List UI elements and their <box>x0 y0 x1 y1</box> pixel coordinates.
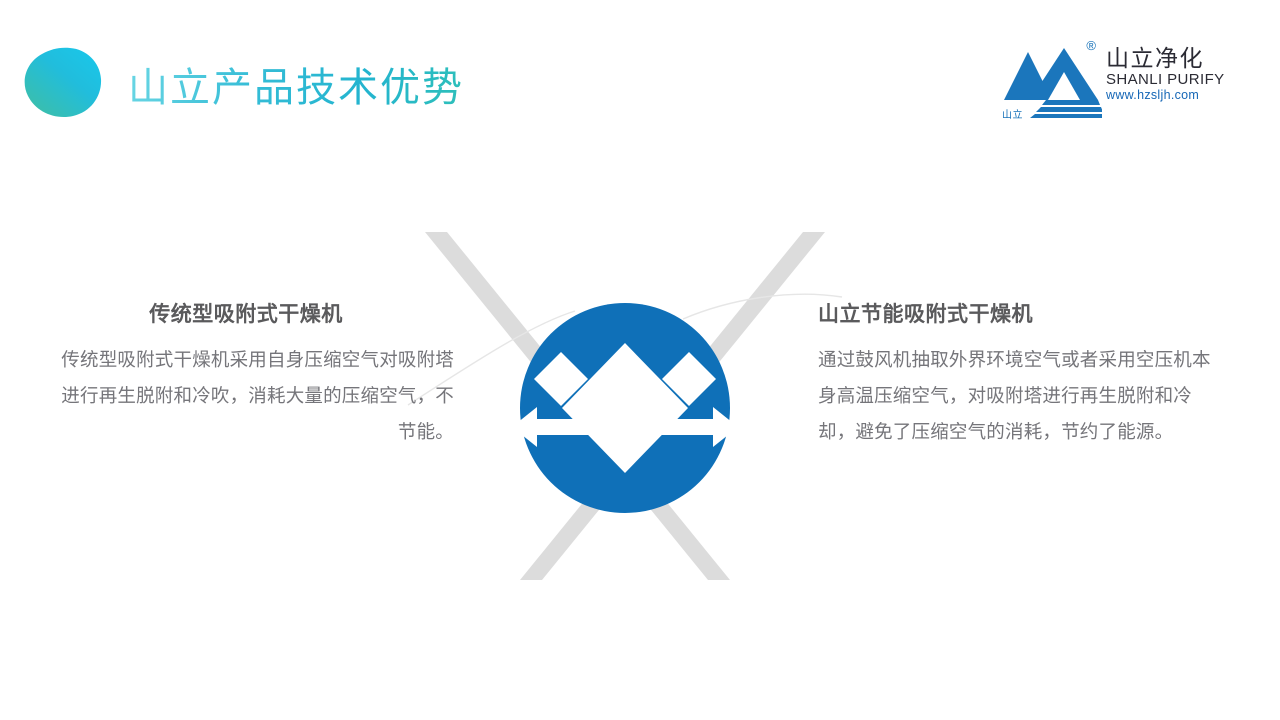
column-traditional: 传统型吸附式干燥机 传统型吸附式干燥机采用自身压缩空气对吸附塔进行再生脱附和冷吹… <box>44 300 454 450</box>
column-shanli: 山立节能吸附式干燥机 通过鼓风机抽取外界环境空气或者采用空压机本身高温压缩空气，… <box>818 300 1218 450</box>
column-traditional-title: 传统型吸附式干燥机 <box>44 300 454 330</box>
page-title: 山立产品技术优势 <box>128 60 464 116</box>
slide-canvas: 山立产品技术优势 ® 山立 山立净化 SHANLI PURIFY www.hzs… <box>0 0 1280 720</box>
column-traditional-body: 传统型吸附式干燥机采用自身压缩空气对吸附塔进行再生脱附和冷吹，消耗大量的压缩空气… <box>44 342 454 450</box>
mountain-triangles-icon: ® 山立 <box>1002 38 1102 122</box>
logo-company-cn: 山立净化 <box>1106 46 1226 71</box>
logo-website: www.hzsljh.com <box>1106 88 1226 103</box>
column-shanli-title: 山立节能吸附式干燥机 <box>818 300 1218 330</box>
company-logo: ® 山立 山立净化 SHANLI PURIFY www.hzsljh.com <box>1002 38 1222 122</box>
registered-trademark-icon: ® <box>1086 38 1096 53</box>
organic-blob-icon <box>22 46 102 118</box>
center-diagram <box>400 215 850 600</box>
column-shanli-body: 通过鼓风机抽取外界环境空气或者采用空压机本身高温压缩空气，对吸附塔进行再生脱附和… <box>818 342 1218 450</box>
logo-wordmark: 山立净化 SHANLI PURIFY www.hzsljh.com <box>1106 46 1226 103</box>
logo-company-en: SHANLI PURIFY <box>1106 71 1226 88</box>
logo-sub-label: 山立 <box>1002 106 1023 121</box>
